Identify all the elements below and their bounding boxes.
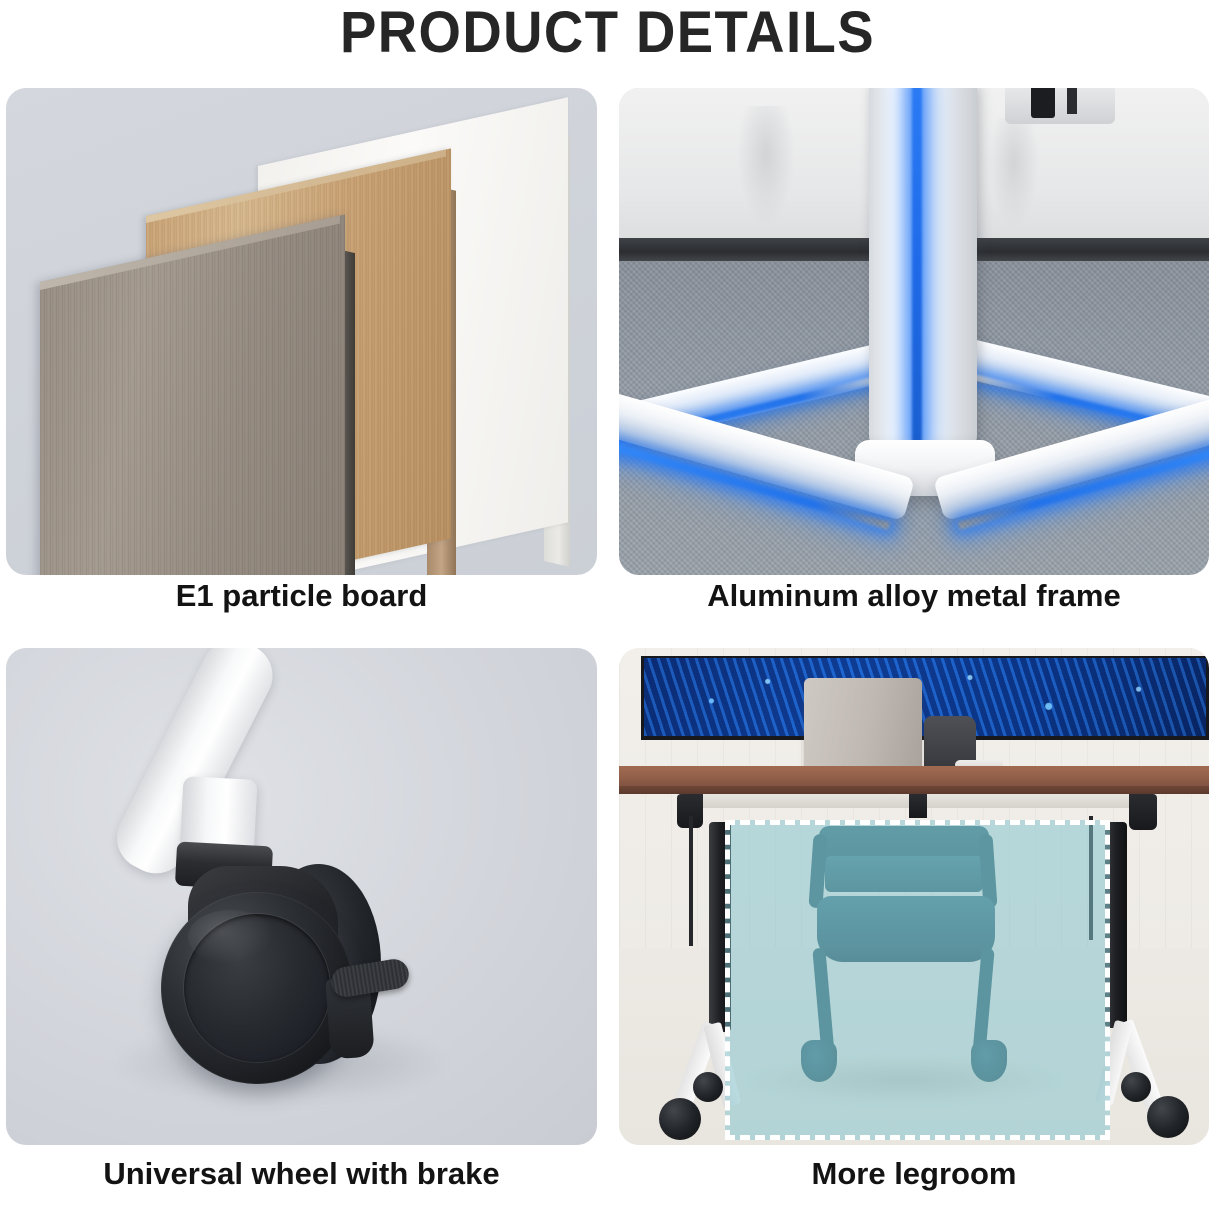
- desk-caster-right-back: [1121, 1072, 1151, 1102]
- caption-aluminum-frame: Aluminum alloy metal frame: [619, 576, 1209, 620]
- frame-vertical-column: [869, 88, 977, 448]
- more-legroom-image: [619, 648, 1209, 1145]
- desk-caster-right-front: [1147, 1096, 1189, 1138]
- caption-more-legroom: More legroom: [619, 1154, 1209, 1198]
- gray-board-face: [40, 214, 345, 575]
- desk-rod-left: [689, 816, 693, 946]
- caster-wheel-highlight: [188, 910, 274, 964]
- frame-column-glow: [912, 88, 922, 444]
- wall-shadow-right: [989, 118, 1039, 228]
- aluminum-frame-image: [619, 88, 1209, 575]
- page-title: PRODUCT DETAILS: [36, 0, 1178, 78]
- detail-card-more-legroom: More legroom: [619, 648, 1209, 1198]
- desk-top-edge: [619, 786, 1209, 794]
- laptop: [804, 678, 922, 773]
- desk-caster-left-back: [693, 1072, 723, 1102]
- desk-bracket-right: [1129, 794, 1157, 830]
- mounting-plate-slot-secondary: [1067, 88, 1077, 114]
- mounting-plate: [1005, 88, 1115, 124]
- detail-card-universal-wheel: Universal wheel with brake: [6, 648, 597, 1198]
- desk-caster-left-front: [659, 1098, 701, 1140]
- detail-card-particle-board: E1 particle board: [6, 88, 597, 626]
- detail-card-aluminum-frame: Aluminum alloy metal frame: [619, 88, 1209, 626]
- desk-top-surface: [619, 766, 1209, 788]
- wall-shadow-left: [737, 106, 795, 226]
- universal-wheel-image: [6, 648, 597, 1145]
- mounting-plate-slot: [1031, 88, 1055, 118]
- particle-board-image: [6, 88, 597, 575]
- product-details-grid: E1 particle board Aluminum alloy metal f…: [6, 88, 1209, 1198]
- legroom-highlight-outline: [725, 820, 1110, 1140]
- caption-particle-board: E1 particle board: [6, 576, 597, 620]
- desk-bracket-center: [909, 794, 927, 818]
- caption-universal-wheel: Universal wheel with brake: [6, 1154, 597, 1198]
